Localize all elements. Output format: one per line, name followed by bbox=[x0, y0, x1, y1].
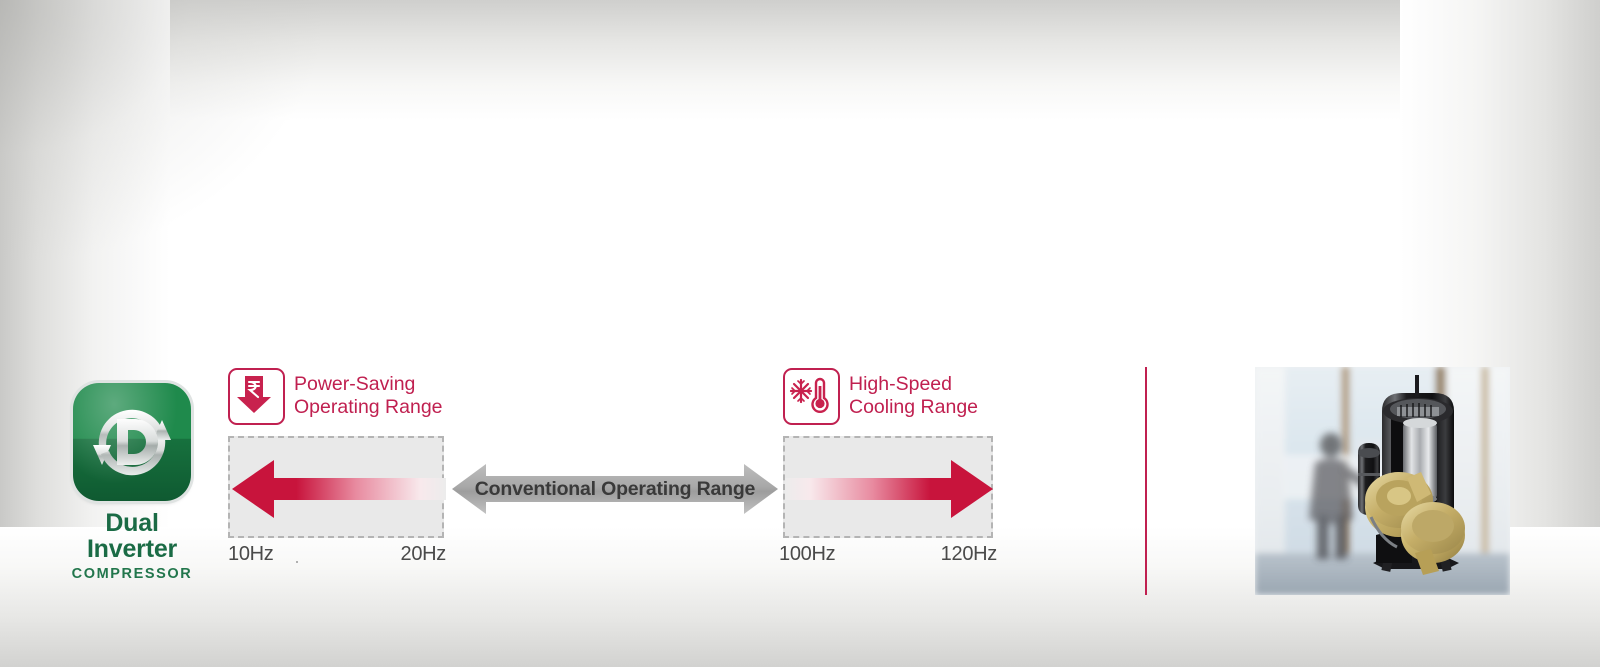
high-speed-cooling-hz-row: 100Hz 120Hz bbox=[779, 543, 997, 566]
power-saving-range-box bbox=[228, 436, 444, 538]
rupee-down-arrow-icon bbox=[228, 368, 285, 425]
high-speed-cooling-title-line2: Cooling Range bbox=[849, 396, 978, 419]
power-saving-max-label: 20Hz bbox=[401, 543, 447, 566]
left-arrow-container bbox=[230, 438, 442, 536]
power-saving-header: Power-Saving Operating Range bbox=[228, 366, 498, 426]
power-saving-title: Power-Saving Operating Range bbox=[294, 373, 443, 419]
tick-dot bbox=[296, 561, 298, 563]
power-saving-title-line1: Power-Saving bbox=[294, 373, 443, 396]
right-arrow-container bbox=[785, 438, 991, 536]
power-saving-range-group: Power-Saving Operating Range bbox=[228, 366, 446, 426]
compressor-product-image bbox=[1255, 367, 1510, 595]
high-speed-cooling-title-line1: High-Speed bbox=[849, 373, 978, 396]
high-speed-cooling-range-box bbox=[783, 436, 993, 538]
high-speed-cooling-title: High-Speed Cooling Range bbox=[849, 373, 978, 419]
right-pointing-arrow-icon bbox=[785, 438, 995, 540]
power-saving-title-line2: Operating Range bbox=[294, 396, 443, 419]
high-speed-cooling-min-label: 100Hz bbox=[779, 543, 835, 566]
logo-title: Dual Inverter bbox=[57, 510, 207, 563]
badge-sheen bbox=[73, 383, 191, 501]
conventional-operating-range: Conventional Operating Range bbox=[450, 458, 780, 520]
vertical-divider bbox=[1145, 367, 1147, 595]
vignette-corner-top-left bbox=[0, 0, 320, 260]
high-speed-cooling-max-label: 120Hz bbox=[941, 543, 997, 566]
infographic-canvas: Dual Inverter COMPRESSOR Power-Saving Op… bbox=[0, 0, 1600, 667]
conventional-range-label: Conventional Operating Range bbox=[450, 458, 780, 520]
dual-inverter-logo-block: Dual Inverter COMPRESSOR bbox=[57, 383, 207, 582]
high-speed-cooling-header: High-Speed Cooling Range bbox=[783, 366, 1053, 426]
left-pointing-arrow-icon bbox=[230, 438, 446, 540]
dual-inverter-badge bbox=[73, 383, 191, 501]
power-saving-hz-row: 10Hz 20Hz bbox=[228, 543, 446, 566]
high-speed-cooling-range-group: High-Speed Cooling Range bbox=[783, 366, 993, 426]
logo-subtitle: COMPRESSOR bbox=[57, 566, 207, 582]
vignette-top bbox=[0, 0, 1600, 120]
power-saving-min-label: 10Hz bbox=[228, 543, 274, 566]
snowflake-thermometer-icon bbox=[783, 368, 840, 425]
